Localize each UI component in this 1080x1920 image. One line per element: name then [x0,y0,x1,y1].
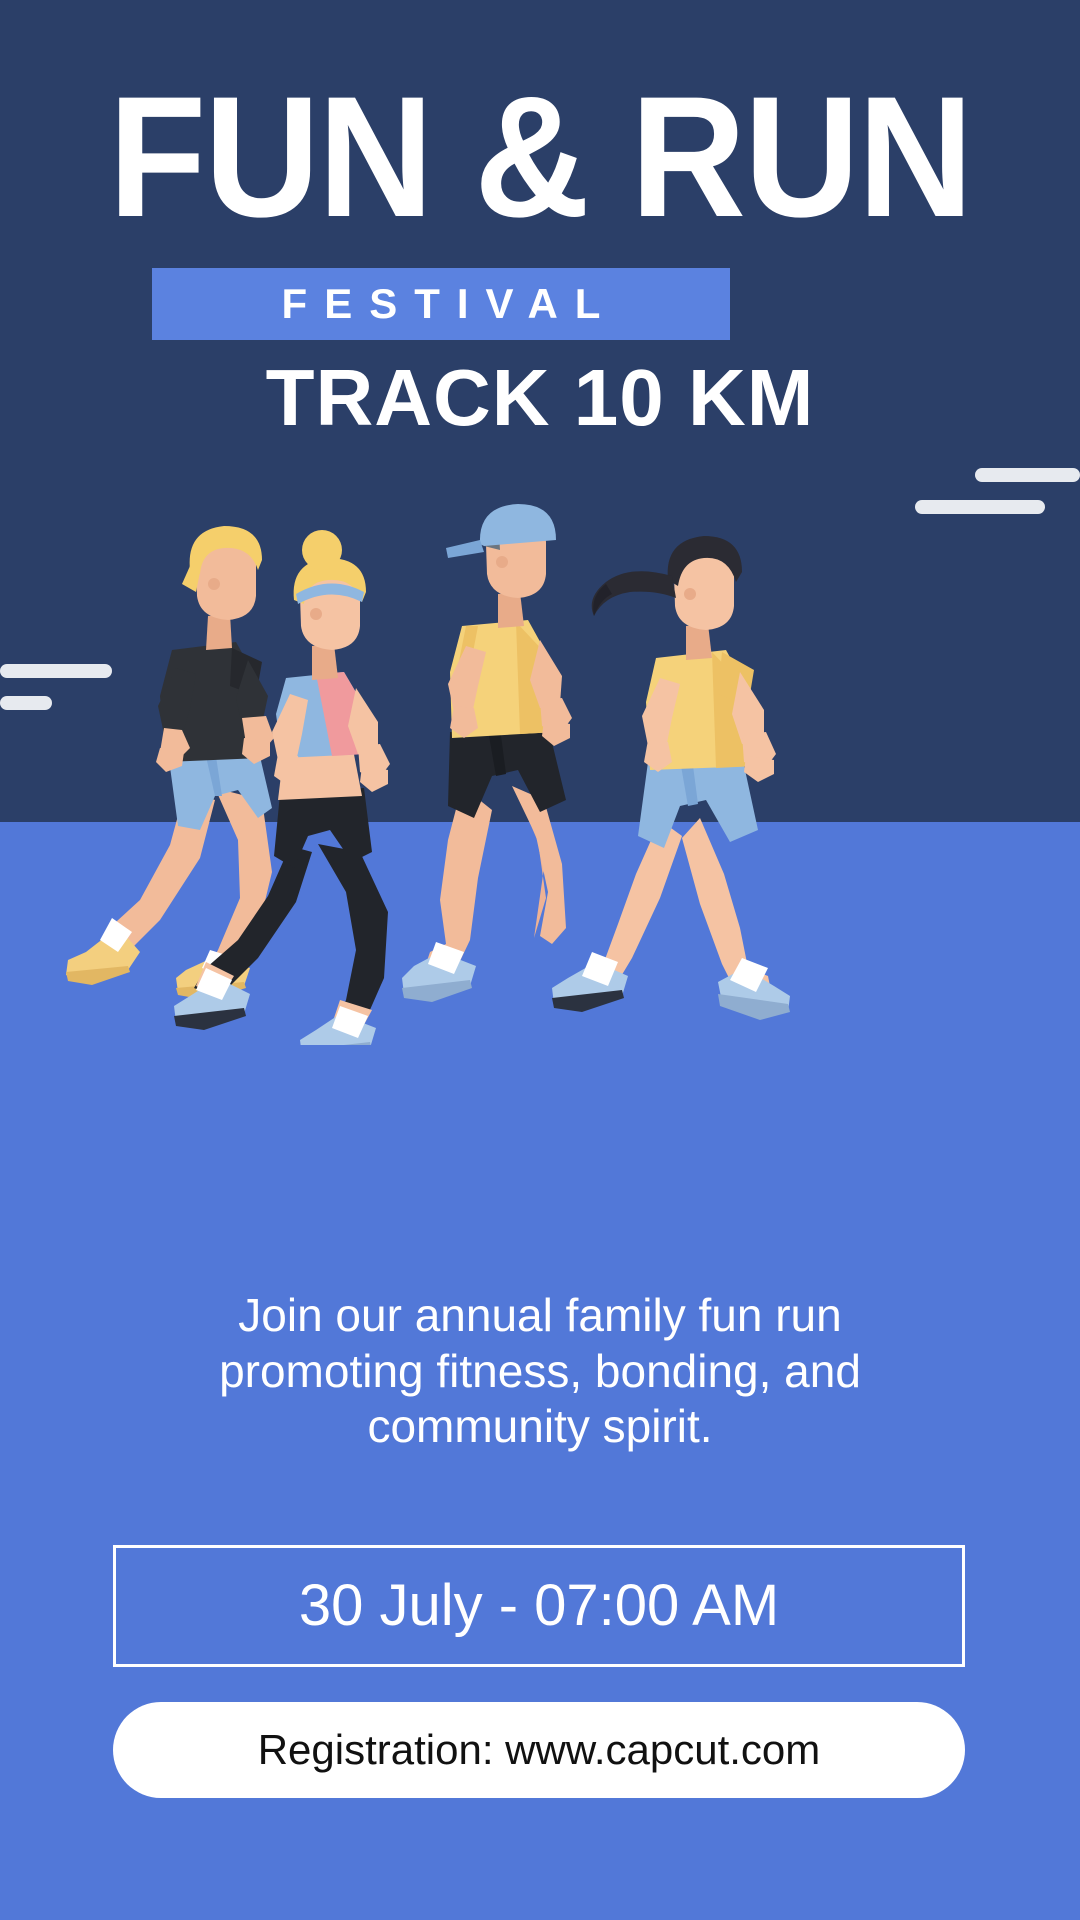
track-label: TRACK 10 KM [266,353,815,442]
description-text: Join our annual family fun run promoting… [90,1288,990,1455]
registration-button[interactable]: Registration: www.capcut.com [113,1702,965,1798]
date-time-label: 30 July - 07:00 AM [299,1577,779,1635]
festival-label: FESTIVAL [265,283,618,325]
runners-illustration [0,500,1080,1045]
page-title: FUN & RUN [38,78,1042,238]
festival-banner: FESTIVAL [152,268,730,340]
track-heading: TRACK 10 KM [0,358,1080,438]
runner-3-man-yellow-tank [402,504,572,1002]
speedline-right-1-icon [975,468,1080,482]
date-time-box: 30 July - 07:00 AM [113,1545,965,1667]
description-line-1: Join our annual family fun run [90,1288,990,1344]
description-line-2: promoting fitness, bonding, and [90,1344,990,1400]
runner-4-woman-yellow-shirt [552,536,790,1020]
runner-1-man-black-shirt [66,526,274,1000]
registration-label: Registration: www.capcut.com [258,1729,821,1771]
description-line-3: community spirit. [90,1399,990,1455]
poster-root: FUN & RUN FESTIVAL TRACK 10 KM [0,0,1080,1920]
headline-block: FUN & RUN [0,78,1080,238]
